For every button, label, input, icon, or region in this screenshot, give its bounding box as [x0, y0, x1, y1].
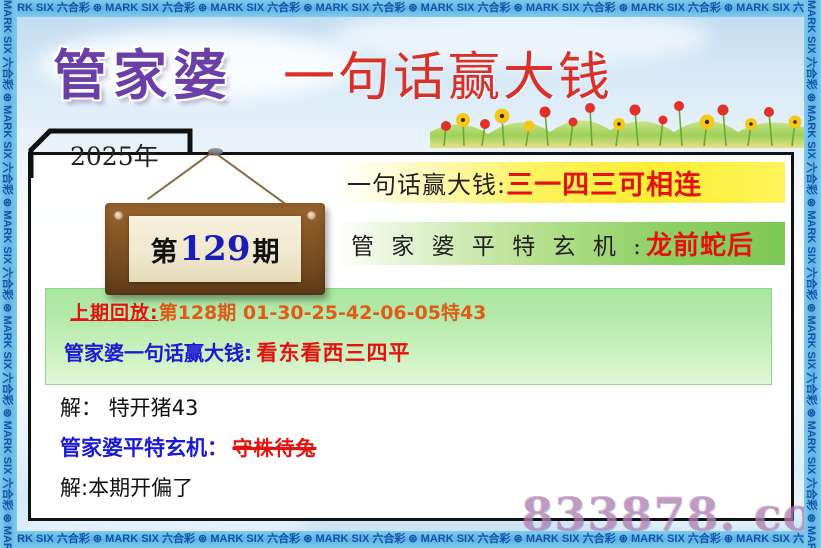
- marquee-border-bottom: MARK SIX 六合彩 ⊛ MARK SIX 六合彩 ⊛ MARK SIX 六…: [0, 531, 821, 548]
- rope-right: [216, 153, 288, 206]
- issue-number: 129: [178, 229, 253, 269]
- explanation-row-1: 解： 特开猪43: [60, 392, 198, 422]
- recap-line: 上期回放:第128期 01-30-25-42-06-05特43: [70, 298, 486, 325]
- poster-canvas: 管家婆 一句话赢大钱: [0, 0, 821, 548]
- recap-label: 上期回放:: [70, 302, 159, 324]
- signboard: 第129期: [105, 203, 325, 295]
- recap-value: 第128期 01-30-25-42-06-05特43: [159, 302, 487, 324]
- previous-prediction-line: 管家婆一句话赢大钱: 看东看西三四平: [64, 337, 410, 367]
- banner-yellow-label: 一句话赢大钱:: [347, 165, 506, 200]
- previous-omen-value: 守株待兔: [232, 436, 316, 460]
- marquee-border-top: MARK SIX 六合彩 ⊛ MARK SIX 六合彩 ⊛ MARK SIX 六…: [0, 0, 821, 17]
- issue-prefix: 第: [151, 230, 178, 269]
- explanation-row-2: 解:本期开偏了: [60, 472, 193, 502]
- issue-number-display: 第129期: [129, 216, 301, 282]
- marquee-border-left: MARK SIX 六合彩 ⊛ MARK SIX 六合彩 ⊛ MARK SIX 六…: [0, 0, 17, 548]
- banner-yellow: 一句话赢大钱: 三一四三可相连: [335, 162, 785, 203]
- brand-logo: 管家婆: [53, 31, 233, 110]
- previous-prediction-value: 看东看西三四平: [256, 341, 410, 365]
- previous-prediction-label: 管家婆一句话赢大钱:: [64, 341, 252, 365]
- banner-green-label: 管 家 婆 平 特 玄 机 :: [351, 227, 646, 261]
- previous-omen-label: 管家婆平特玄机：: [60, 436, 228, 460]
- marquee-text: MARK SIX 六合彩 ⊛ MARK SIX 六合彩 ⊛ MARK SIX 六…: [0, 0, 15, 548]
- peg-icon: [307, 211, 316, 220]
- banner-yellow-answer: 三一四三可相连: [506, 163, 702, 202]
- hanging-sign: 第129期: [95, 148, 335, 278]
- marquee-text: MARK SIX 六合彩 ⊛ MARK SIX 六合彩 ⊛ MARK SIX 六…: [804, 0, 819, 548]
- banner-green: 管 家 婆 平 特 玄 机 : 龙前蛇后: [335, 222, 785, 265]
- marquee-text: MARK SIX 六合彩 ⊛ MARK SIX 六合彩 ⊛ MARK SIX 六…: [0, 531, 821, 548]
- marquee-text: MARK SIX 六合彩 ⊛ MARK SIX 六合彩 ⊛ MARK SIX 六…: [0, 0, 821, 17]
- page-title: 一句话赢大钱: [283, 35, 613, 110]
- recap-box: 上期回放:第128期 01-30-25-42-06-05特43 管家婆一句话赢大…: [45, 288, 772, 385]
- previous-omen-row: 管家婆平特玄机： 守株待兔: [60, 432, 316, 462]
- parchment: 第129期: [129, 216, 301, 282]
- rope-left: [147, 151, 213, 200]
- peg-icon: [114, 211, 123, 220]
- explanation-text-1: 解： 特开猪43: [60, 396, 198, 420]
- banner-green-answer: 龙前蛇后: [646, 225, 754, 262]
- marquee-border-right: MARK SIX 六合彩 ⊛ MARK SIX 六合彩 ⊛ MARK SIX 六…: [804, 0, 821, 548]
- explanation-text-2: 解:本期开偏了: [60, 476, 193, 500]
- issue-suffix: 期: [252, 230, 279, 269]
